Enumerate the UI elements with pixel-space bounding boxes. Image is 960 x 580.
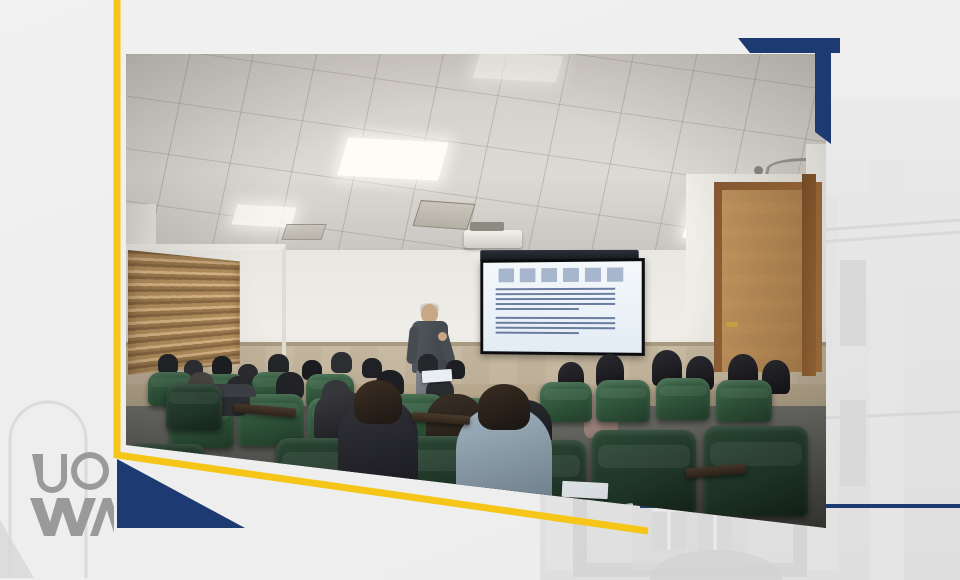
slide-text-line: [495, 308, 579, 310]
audience-head-foreground: [478, 384, 530, 430]
navy-corner-bracket: [730, 32, 840, 144]
projection-screen: [480, 258, 644, 356]
audience-head: [158, 354, 178, 374]
slide-text-line: [495, 322, 615, 324]
event-photo: [126, 54, 826, 528]
auditorium-seat: [166, 384, 222, 430]
audience-head-foreground: [354, 380, 402, 424]
paper-sheet: [422, 369, 453, 383]
uowa-logo: [30, 452, 114, 538]
auditorium-seat: [716, 380, 772, 422]
ceiling-vent: [412, 200, 475, 230]
slide-text-line: [495, 293, 615, 295]
navy-triangle: [117, 459, 245, 528]
slide-text-line: [495, 327, 615, 330]
slide-text-block: [495, 288, 631, 347]
slide-text-line: [495, 288, 615, 291]
ceiling-vent: [281, 224, 326, 240]
slide-text-line: [495, 298, 615, 300]
presenter-hand-with-microphone: [438, 332, 447, 341]
auditorium-seat: [656, 378, 710, 420]
wooden-door: [722, 190, 808, 372]
audience-head: [331, 352, 352, 373]
door-handle: [726, 322, 738, 327]
door-jamb: [802, 174, 816, 376]
auditorium-seat: [596, 380, 650, 422]
triangle-shape: [117, 459, 245, 528]
audience-head: [212, 356, 232, 376]
ceiling-light-panel: [473, 54, 563, 82]
slide-text-line: [495, 317, 615, 319]
ceiling-projector: [464, 230, 522, 248]
projected-slide: [483, 261, 641, 353]
bracket-vertical-bar: [815, 38, 831, 144]
paper-sheet: [562, 481, 609, 499]
slide-text-line: [495, 332, 579, 334]
photo-content: [126, 54, 826, 528]
slide-heading: [499, 267, 626, 282]
watermark-arch-left: [0, 320, 130, 580]
window-frame: [126, 244, 286, 380]
ceiling-light-panel: [337, 137, 448, 180]
slide-text-line: [495, 303, 615, 305]
